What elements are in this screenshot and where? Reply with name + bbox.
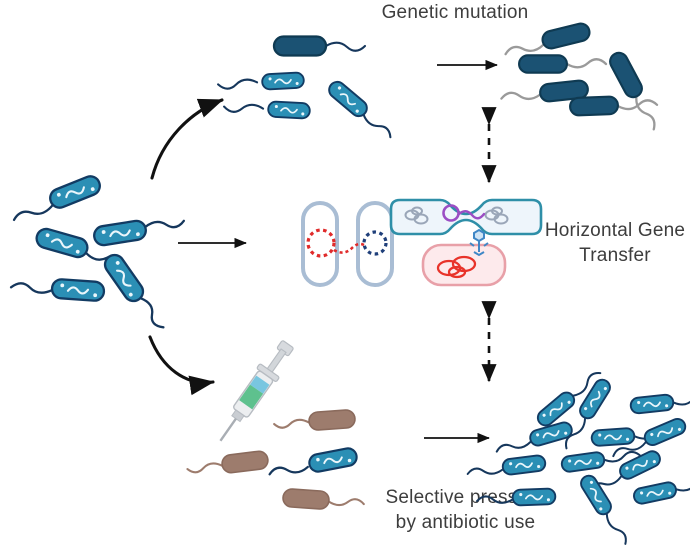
resistant-bacteria-cluster-bottom bbox=[466, 366, 690, 547]
antibiotic-syringe bbox=[211, 337, 298, 447]
arrow-source-to-mutation bbox=[152, 100, 222, 178]
arrow-source-to-antibiotic bbox=[150, 337, 213, 383]
mutation-bacteria-group bbox=[218, 37, 397, 142]
susceptible-bacteria-cluster bbox=[9, 173, 185, 335]
conjugation-cell bbox=[391, 200, 541, 234]
antibiotic-exposed-group bbox=[186, 409, 364, 512]
transduction-cell bbox=[423, 245, 505, 285]
resistant-bacteria-cluster-top bbox=[500, 22, 662, 133]
diagram-graphics bbox=[0, 0, 690, 550]
diagram-canvas: Genetic mutation Horizontal Gene Transfe… bbox=[0, 0, 690, 550]
transformation-cells bbox=[303, 203, 392, 285]
